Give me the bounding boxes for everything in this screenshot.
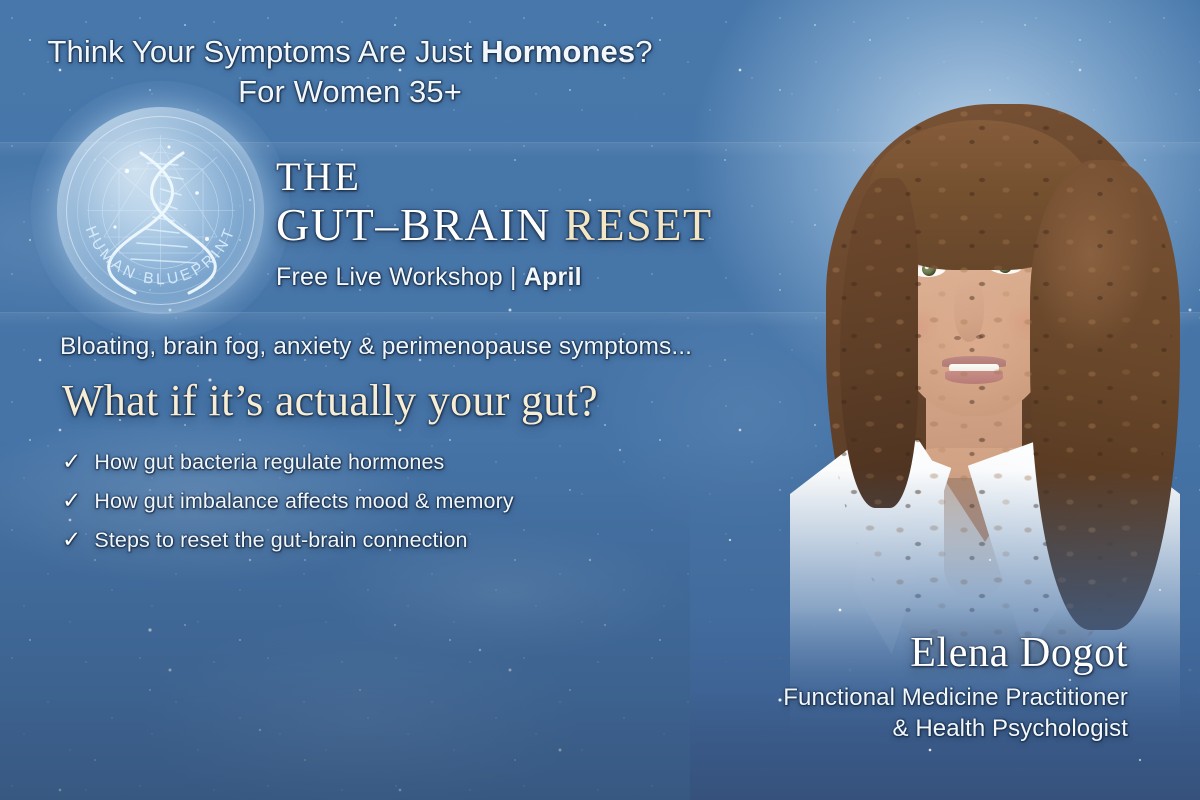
list-item: ✓ How gut bacteria regulate hormones: [62, 450, 702, 475]
logo-caption-arc: HUMAN BLUEPRINT: [57, 107, 264, 314]
logo-caption-text: HUMAN BLUEPRINT: [82, 224, 239, 289]
title-sub-month: April: [524, 263, 582, 291]
list-item: ✓ Steps to reset the gut-brain connectio…: [62, 528, 702, 553]
presenter-credit: Elena Dogot Functional Medicine Practiti…: [698, 630, 1128, 745]
event-title-block: THE GUT–BRAIN RESET Free Live Workshop |…: [276, 156, 796, 292]
kicker-line1: Think Your Symptoms Are Just Hormones?: [47, 34, 652, 69]
list-item-label: How gut imbalance affects mood & memory: [94, 489, 513, 514]
hook-question: What if it’s actually your gut?: [62, 375, 598, 426]
workshop-promo-banner: Think Your Symptoms Are Just Hormones? F…: [0, 0, 1200, 800]
kicker-bold-word: Hormones: [481, 34, 635, 69]
symptoms-line: Bloating, brain fog, anxiety & perimenop…: [60, 333, 692, 361]
human-blueprint-logo: HUMAN BLUEPRINT: [57, 107, 264, 314]
svg-text:HUMAN BLUEPRINT: HUMAN BLUEPRINT: [82, 224, 239, 289]
kicker-suffix: ?: [635, 34, 652, 69]
benefit-list: ✓ How gut bacteria regulate hormones ✓ H…: [62, 450, 702, 567]
check-icon: ✓: [62, 450, 81, 473]
presenter-role: Functional Medicine Practitioner & Healt…: [698, 682, 1128, 744]
title-the: THE: [276, 156, 796, 198]
kicker-prefix: Think Your Symptoms Are Just: [47, 34, 481, 69]
title-subline: Free Live Workshop | April: [276, 263, 796, 292]
list-item-label: Steps to reset the gut-brain connection: [94, 528, 467, 553]
presenter-role-line1: Functional Medicine Practitioner: [698, 682, 1128, 713]
list-item-label: How gut bacteria regulate hormones: [94, 450, 444, 475]
title-main: GUT–BRAIN RESET: [276, 198, 796, 252]
presenter-name: Elena Dogot: [698, 630, 1128, 676]
title-main-accent: RESET: [564, 199, 713, 250]
check-icon: ✓: [62, 528, 81, 551]
title-sub-plain: Free Live Workshop |: [276, 263, 524, 291]
presenter-role-line2: & Health Psychologist: [698, 713, 1128, 744]
title-main-white: GUT–BRAIN: [276, 199, 564, 250]
check-icon: ✓: [62, 489, 81, 512]
list-item: ✓ How gut imbalance affects mood & memor…: [62, 489, 702, 514]
